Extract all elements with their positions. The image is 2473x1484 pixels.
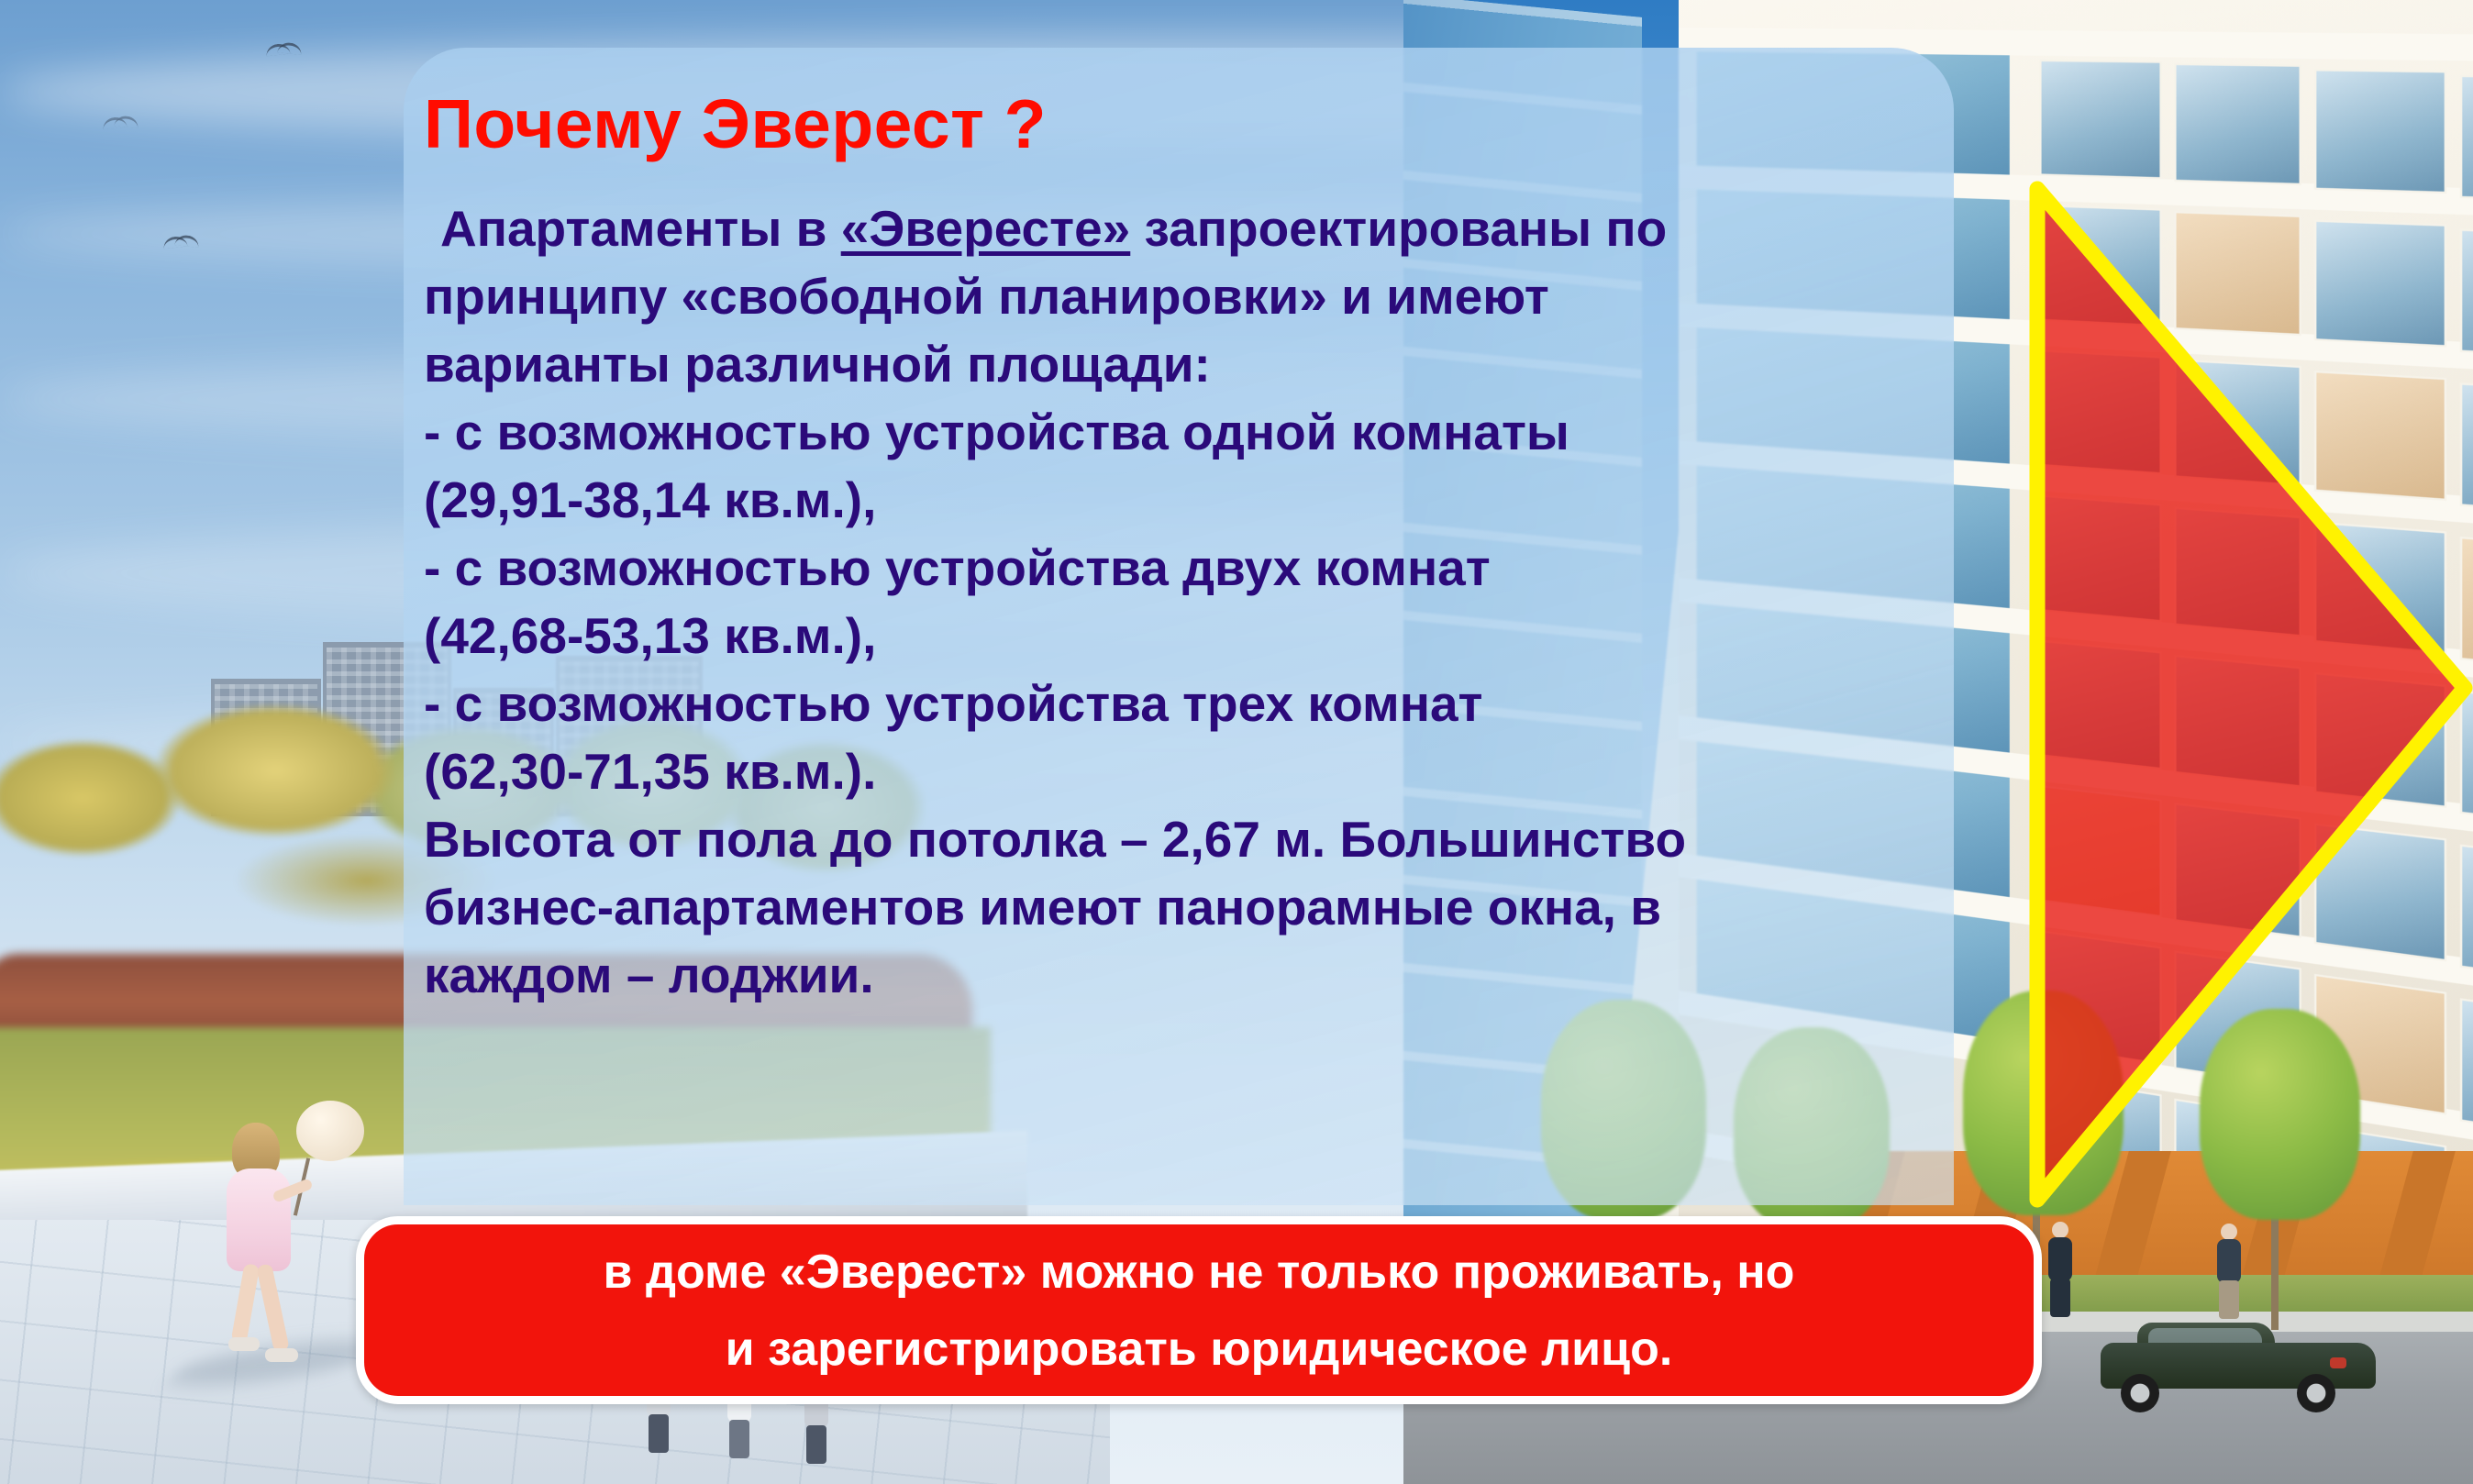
body-text: Апартаменты в «Эвересте» запроектированы…	[424, 194, 1983, 1009]
body-line-1-c: запроектированы по	[1130, 200, 1667, 257]
bird-icon	[102, 116, 127, 130]
bird-icon	[265, 43, 290, 57]
body-line-8: - с возможностью устройства трех комнат	[424, 670, 1983, 737]
body-line-9: (62,30-71,35 кв.м.).	[424, 737, 1983, 805]
body-line-2: принципу «свободной планировки» и имеют	[424, 262, 1983, 330]
body-line-1-a: Апартаменты в	[440, 200, 841, 257]
body-line-7: (42,68-53,13 кв.м.),	[424, 602, 1983, 670]
body-line-4: - с возможностью устройства одной комнат…	[424, 398, 1983, 466]
girl-with-balloon	[216, 1101, 353, 1403]
body-line-11: бизнес-апартаментов имеют панорамные окн…	[424, 873, 1983, 941]
banner-line-2: и зарегистрировать юридическое лицо.	[726, 1311, 1673, 1388]
body-line-3: варианты различной площади:	[424, 330, 1983, 398]
body-line-12: каждом – лоджии.	[424, 941, 1983, 1009]
callout-banner: в доме «Эверест» можно не только прожива…	[356, 1216, 2042, 1404]
body-line-10: Высота от пола до потолка – 2,67 м. Боль…	[424, 805, 1983, 873]
body-line-5: (29,91-38,14 кв.м.),	[424, 466, 1983, 534]
arrow-shape	[2037, 189, 2465, 1200]
balloon-icon	[296, 1101, 364, 1161]
everest-underlined: «Эвересте»	[841, 200, 1131, 257]
body-line-6: - с возможностью устройства двух комнат	[424, 534, 1983, 602]
body-line-1: Апартаменты в «Эвересте» запроектированы…	[424, 194, 1983, 262]
page-title: Почему Эверест ?	[424, 84, 1047, 163]
presentation-slide: Почему Эверест ? Апартаменты в «Эвересте…	[0, 0, 2473, 1484]
banner-line-1: в доме «Эверест» можно не только прожива…	[604, 1234, 1795, 1311]
parked-car	[2101, 1321, 2376, 1403]
red-arrow-triangle	[2023, 174, 2473, 1215]
